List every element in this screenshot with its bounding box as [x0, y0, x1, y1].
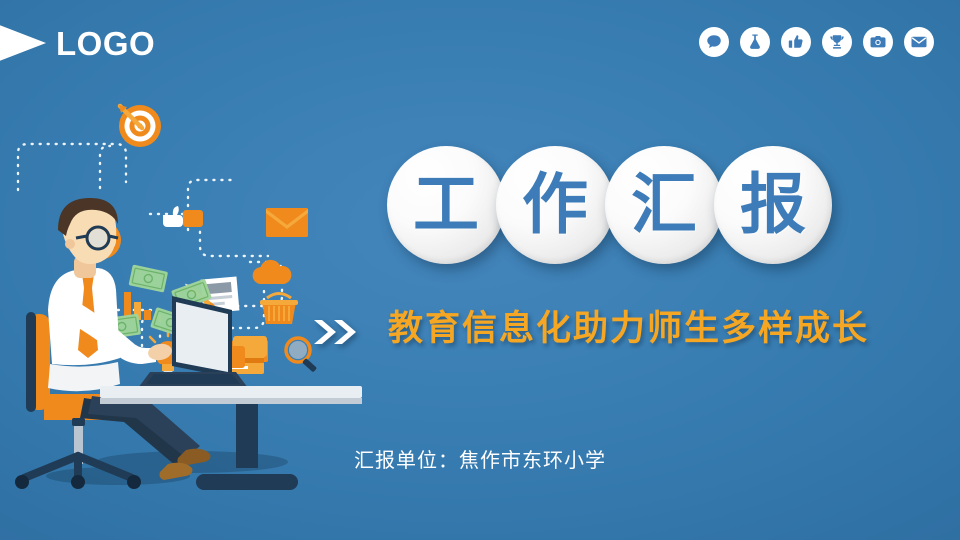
- envelope-icon[interactable]: [904, 27, 934, 57]
- trophy-icon[interactable]: [822, 27, 852, 57]
- title-char-circle: 工: [387, 146, 505, 264]
- camera-icon[interactable]: [863, 27, 893, 57]
- flask-icon[interactable]: [740, 27, 770, 57]
- title-char-circle: 报: [714, 146, 832, 264]
- logo-text: LOGO: [56, 27, 155, 60]
- title-char: 工: [413, 172, 479, 238]
- subtitle-row: 教育信息化助力师生多样成长: [312, 312, 869, 347]
- presentation-slide: LOGO: [0, 0, 960, 540]
- envelope-icon: [266, 208, 308, 237]
- illustration-businessman-at-desk: .or{fill:#f08a1c} .or2{fill:#f6a93b} .wt…: [0, 78, 380, 498]
- speech-bubble-icon[interactable]: [699, 27, 729, 57]
- shopping-basket-icon: [260, 294, 298, 325]
- thumbs-up-icon[interactable]: [781, 27, 811, 57]
- double-chevron-right-icon: [312, 317, 364, 347]
- title-char: 作: [522, 172, 588, 238]
- title-char-circle: 汇: [605, 146, 723, 264]
- title-char: 报: [740, 172, 806, 238]
- main-title: 工 作 汇 报: [387, 146, 832, 264]
- social-icon-row: [699, 27, 934, 57]
- title-char-circle: 作: [496, 146, 614, 264]
- title-char: 汇: [631, 172, 697, 238]
- cloud-icon: [253, 260, 292, 284]
- play-triangle-icon: [0, 19, 46, 67]
- subtitle-text: 教育信息化助力师生多样成长: [388, 312, 869, 347]
- target-dart-icon: [119, 105, 161, 147]
- thumbs-up-hand-icon: [163, 206, 203, 227]
- logo-block[interactable]: LOGO: [0, 14, 155, 72]
- report-unit-line: 汇报单位：焦作市东环小学: [0, 444, 960, 473]
